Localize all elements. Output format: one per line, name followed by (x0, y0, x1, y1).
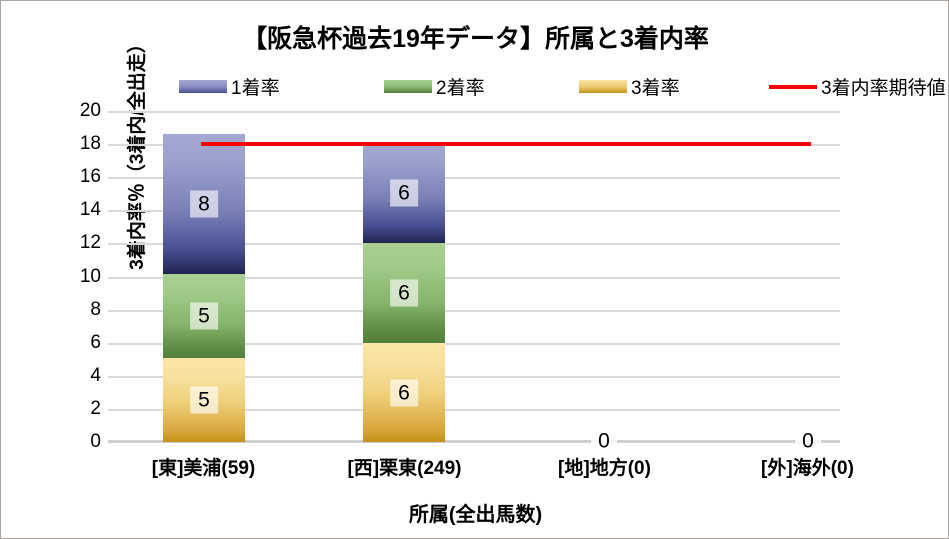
legend-item-1chaku[interactable]: 1着率 (179, 73, 280, 99)
bar-segment-3chaku[interactable]: 5 (163, 358, 245, 442)
y-axis-tick: 6 (53, 343, 101, 365)
y-axis-tick: 10 (53, 277, 101, 299)
bar-zero-label: 0 (591, 429, 617, 454)
x-axis-title: 所属(全出馬数) (1, 498, 949, 527)
legend-item-label: 2着率 (436, 73, 485, 100)
bar-segment-label: 5 (190, 387, 218, 414)
y-axis-tick: 12 (53, 243, 101, 265)
x-axis-tick-ritto: [西]栗東(249) (313, 453, 496, 480)
bar-segment-label: 6 (390, 379, 418, 406)
chart-legend: 1着率 2着率 3着率 3着内率期待値 (179, 73, 919, 99)
bar-column[interactable]: 6 6 6 (363, 143, 445, 442)
bar-segment-1chaku[interactable]: 6 (363, 143, 445, 243)
legend-red-line-icon (769, 80, 817, 93)
y-axis-tick: 0 (53, 442, 101, 464)
gridline (108, 111, 840, 113)
plot-area: 5 5 8 6 6 6 0 0 (108, 111, 840, 442)
bar-segment-1chaku[interactable]: 8 (163, 134, 245, 274)
y-axis-tick: 18 (53, 144, 101, 166)
expected-value-reference-line (201, 142, 811, 146)
bar-segment-2chaku[interactable]: 6 (363, 243, 445, 343)
legend-item-expected-value[interactable]: 3着内率期待値 (769, 73, 946, 99)
legend-item-label: 3着率 (631, 73, 680, 100)
y-axis-tick: 8 (53, 310, 101, 332)
legend-swatch-green-icon (384, 80, 432, 93)
y-axis-tick: 4 (53, 376, 101, 398)
y-axis-tick: 20 (53, 111, 101, 133)
x-axis-tick-miho: [東]美浦(59) (112, 453, 295, 480)
legend-item-3chaku[interactable]: 3着率 (579, 73, 680, 99)
bar-segment-3chaku[interactable]: 6 (363, 343, 445, 442)
legend-item-label: 3着内率期待値 (821, 73, 946, 100)
bar-column[interactable]: 5 5 8 (163, 134, 245, 442)
x-axis-tick-chiho: [地]地方(0) (513, 453, 696, 480)
y-axis-tick: 2 (53, 409, 101, 431)
y-axis-tick: 14 (53, 210, 101, 232)
legend-item-2chaku[interactable]: 2着率 (384, 73, 485, 99)
x-axis-tick-labels: [東]美浦(59) [西]栗東(249) [地]地方(0) [外]海外(0) (108, 453, 840, 483)
legend-item-label: 1着率 (231, 73, 280, 100)
bar-zero-label: 0 (795, 429, 821, 454)
bar-segment-label: 5 (190, 303, 218, 330)
chart-container: 【阪急杯過去19年データ】所属と3着内率 1着率 2着率 3着率 3着内率期待値… (0, 0, 949, 539)
legend-swatch-blue-icon (179, 80, 227, 93)
bar-segment-label: 6 (390, 180, 418, 207)
y-axis-tick: 16 (53, 177, 101, 199)
y-axis-tick-labels: 20 18 16 14 12 10 8 6 4 2 0 (53, 111, 101, 442)
x-axis-tick-kaigai: [外]海外(0) (716, 453, 899, 480)
bar-segment-2chaku[interactable]: 5 (163, 274, 245, 358)
bar-segment-label: 6 (390, 280, 418, 307)
bar-segment-label: 8 (190, 191, 218, 218)
legend-swatch-gold-icon (579, 80, 627, 93)
